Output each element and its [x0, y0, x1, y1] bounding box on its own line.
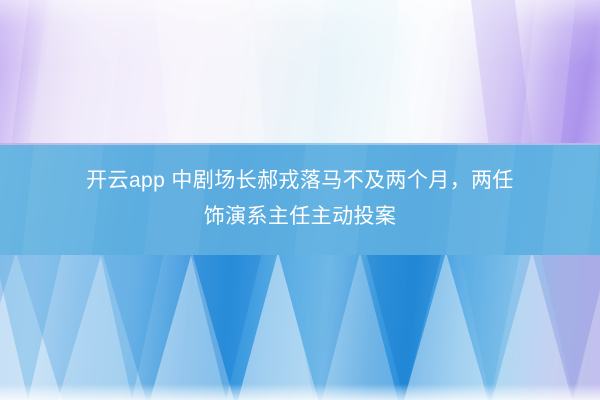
chevron-up-7 [540, 252, 600, 400]
chevron-up-6 [460, 252, 520, 400]
chevron-up-5 [366, 252, 442, 400]
chevron-up-3 [190, 252, 262, 400]
chevron-up-2 [100, 252, 164, 400]
bottom-chevron-zone [0, 252, 600, 400]
bottom-white-fade [0, 384, 600, 400]
headline-line-1: 开云app 中剧场长郝戎落马不及两个月，两任 [86, 166, 514, 196]
banner-image: 开云app 中剧场长郝戎落马不及两个月，两任 饰演系主任主动投案 [0, 0, 600, 400]
chevron-up-4 [284, 252, 344, 400]
chevron-up-1 [0, 252, 62, 400]
headline-text-block: 开云app 中剧场长郝戎落马不及两个月，两任 饰演系主任主动投案 [0, 143, 600, 255]
headline-line-2: 饰演系主任主动投案 [204, 202, 397, 232]
